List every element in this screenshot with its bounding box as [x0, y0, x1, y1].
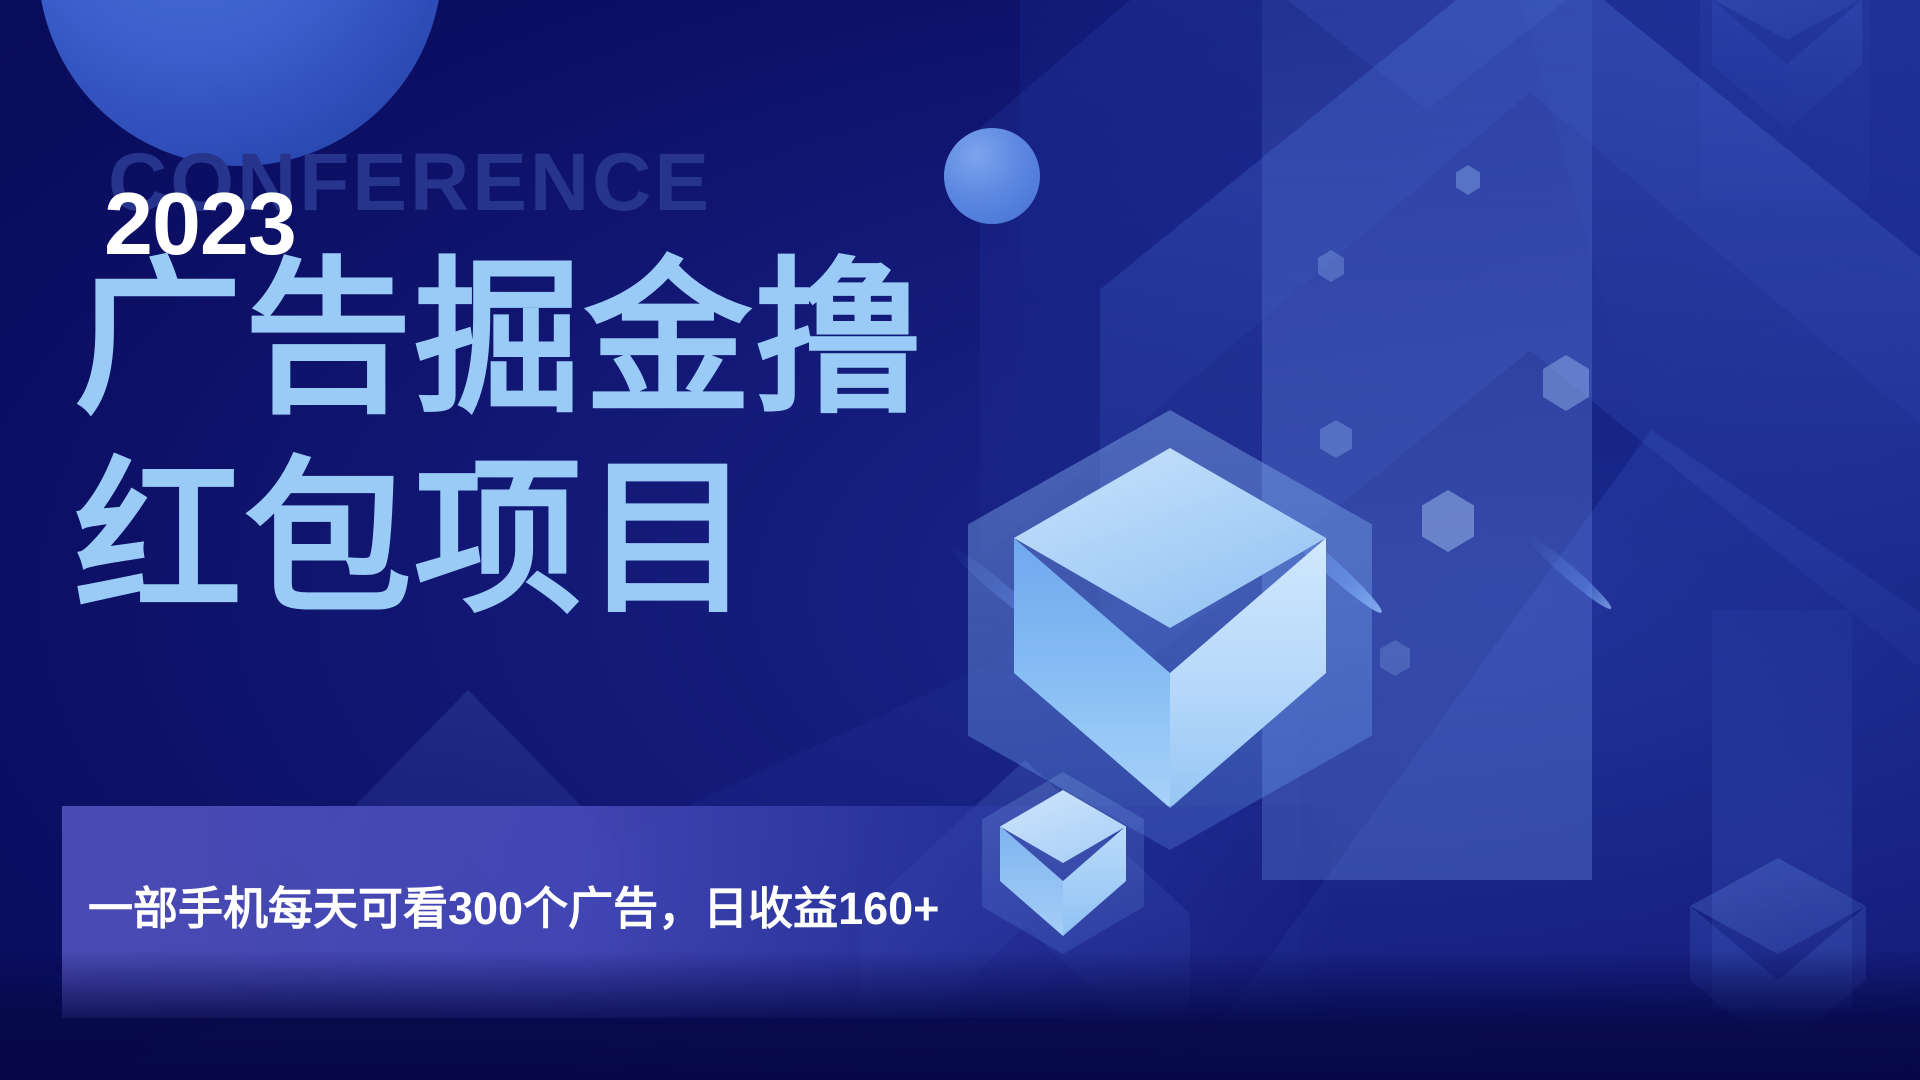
isometric-cube-main-icon — [1014, 448, 1326, 808]
background-bottom-vignette — [0, 950, 1920, 1080]
sphere-small-decoration — [944, 128, 1040, 224]
headline-line-2: 红包项目 — [74, 455, 754, 623]
poster-canvas: CONFERENCE 2023 广告掘金撸 红包项目 一部手机每天可看300个广… — [0, 0, 1920, 1080]
subtitle-text: 一部手机每天可看300个广告，日收益160+ — [88, 876, 1088, 941]
isometric-cube-top-right-icon — [1712, 0, 1862, 130]
headline-line-1: 广告掘金撸 — [74, 255, 924, 423]
